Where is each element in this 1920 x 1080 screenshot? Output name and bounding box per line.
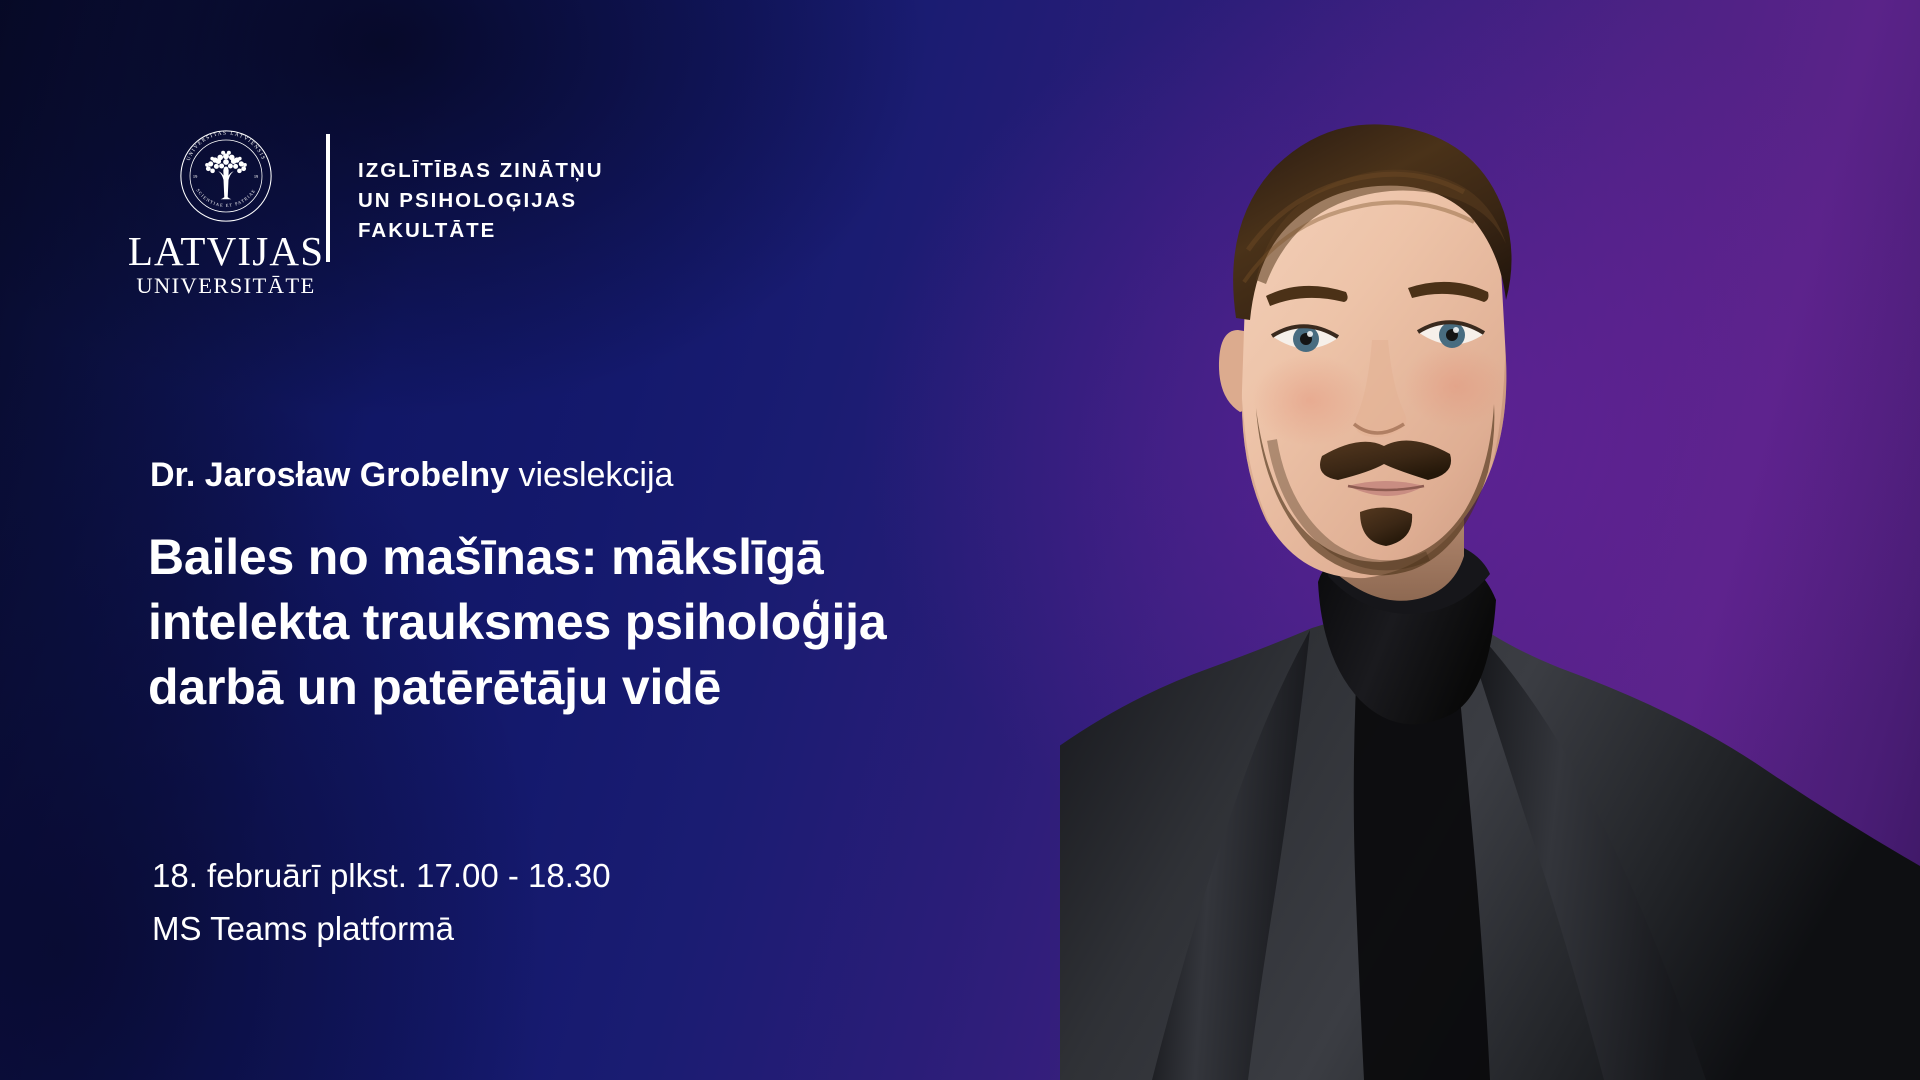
faculty-line-2: UN PSIHOLOĢIJAS (358, 186, 604, 216)
lu-wordmark-line1: LATVIJAS (128, 231, 324, 272)
speaker-portrait (1060, 0, 1920, 1080)
lecture-title: Bailes no mašīnas: mākslīgā intelekta tr… (148, 525, 1048, 720)
lecture-title-line-1: Bailes no mašīnas: mākslīgā (148, 525, 1048, 590)
faculty-name: IZGLĪTĪBAS ZINĀTŅU UN PSIHOLOĢIJAS FAKUL… (358, 156, 604, 246)
oak-tree-seal-icon: UNIVERSITAS LATVIENSIS SCIENTIAE ET PATR… (178, 128, 274, 224)
lecture-announcement-poster: UNIVERSITAS LATVIENSIS SCIENTIAE ET PATR… (0, 0, 1920, 1080)
university-logo-lockup: UNIVERSITAS LATVIENSIS SCIENTIAE ET PATR… (140, 128, 604, 298)
lu-mark: UNIVERSITAS LATVIENSIS SCIENTIAE ET PATR… (140, 128, 312, 298)
speaker-line: Dr. Jarosław Grobelny vieslekcija (150, 455, 673, 496)
svg-text:19: 19 (254, 174, 259, 179)
event-type-label: vieslekcija (509, 456, 673, 494)
event-details: 18. februārī plkst. 17.00 - 18.30 MS Tea… (152, 850, 611, 956)
lu-wordmark: LATVIJAS UNIVERSITĀTE (128, 231, 324, 298)
lecture-title-line-3: darbā un patērētāju vidē (148, 655, 1048, 720)
svg-text:19: 19 (193, 174, 198, 179)
speaker-name: Dr. Jarosław Grobelny (150, 456, 509, 494)
logo-divider (326, 134, 330, 262)
faculty-line-3: FAKULTĀTE (358, 216, 604, 246)
lecture-title-line-2: intelekta trauksmes psiholoģija (148, 590, 1048, 655)
lu-wordmark-line2: UNIVERSITĀTE (128, 275, 324, 298)
event-date-time: 18. februārī plkst. 17.00 - 18.30 (152, 850, 611, 903)
event-platform: MS Teams platformā (152, 903, 611, 956)
faculty-line-1: IZGLĪTĪBAS ZINĀTŅU (358, 156, 604, 186)
